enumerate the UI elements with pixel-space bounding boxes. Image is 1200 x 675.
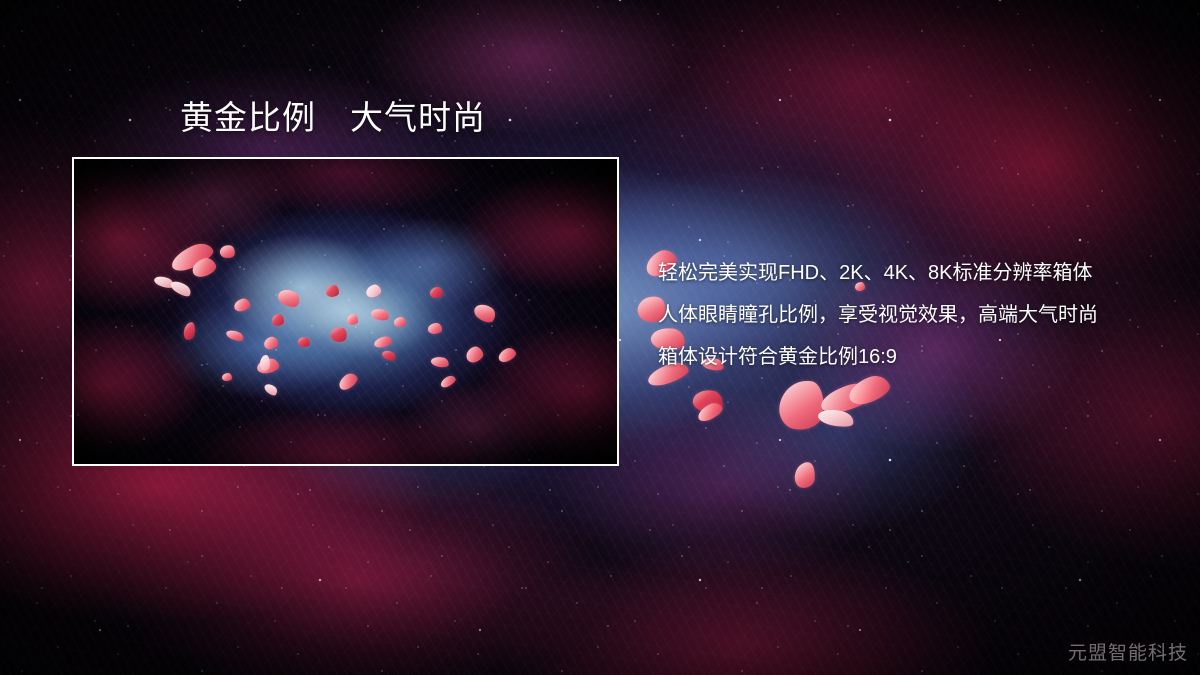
photo-vignette xyxy=(74,159,617,464)
watermark: 元盟智能科技 xyxy=(1068,638,1188,665)
petal xyxy=(817,406,856,429)
image-frame xyxy=(72,157,619,466)
body-line-3: 箱体设计符合黄金比例16:9 xyxy=(658,336,1178,378)
page-title: 黄金比例 大气时尚 xyxy=(180,99,486,137)
body-text-block: 轻松完美实现FHD、2K、4K、8K标准分辨率箱体 人体眼睛瞳孔比例，享受视觉效… xyxy=(658,252,1178,378)
petal xyxy=(818,379,877,417)
presentation-slide: 黄金比例 大气时尚 轻松完美实现FHD、2K、4K、8K标准分辨率箱体 人体眼睛… xyxy=(0,0,1200,675)
body-line-1: 轻松完美实现FHD、2K、4K、8K标准分辨率箱体 xyxy=(658,252,1178,294)
petal xyxy=(695,400,725,424)
petal xyxy=(691,388,724,415)
petal xyxy=(776,377,828,434)
petal xyxy=(794,461,817,489)
nebula-photo xyxy=(74,159,617,464)
body-line-2: 人体眼睛瞳孔比例，享受视觉效果，高端大气时尚 xyxy=(658,294,1178,336)
